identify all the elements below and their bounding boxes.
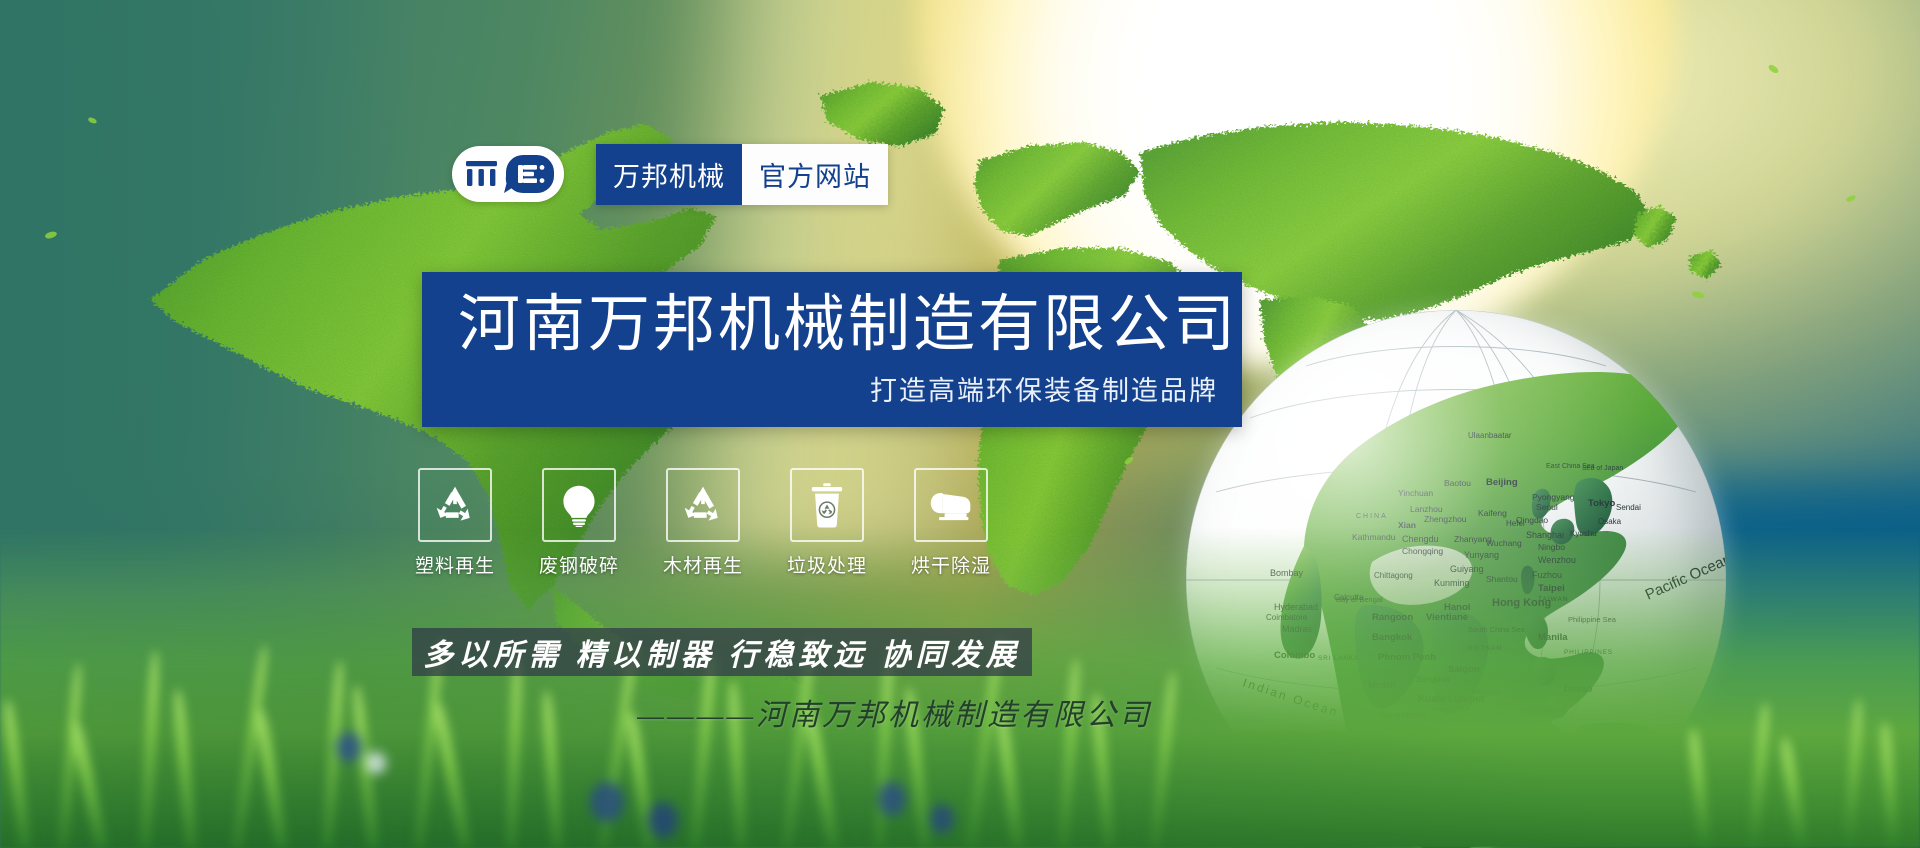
blue-flower — [336, 732, 362, 762]
service-icon-box[interactable] — [666, 468, 740, 542]
slogan-banner: 多以所需 精以制器 行稳致远 协同发展 — [412, 628, 1032, 676]
site-nav: 万邦机械 官方网站 — [596, 144, 888, 205]
slogan-attribution: ————河南万邦机械制造有限公司 — [412, 690, 1152, 734]
hero-banner: Ulaanbaatar Beijing Pyongyang Seoul Toky… — [0, 0, 1920, 848]
logo-b-glyph — [504, 155, 554, 193]
service-label: 废钢破碎 — [539, 551, 619, 578]
service-icon-row: 塑料再生 废钢破碎 — [420, 468, 986, 578]
service-icon-box[interactable] — [542, 468, 616, 542]
svg-text:CHINA: CHINA — [1356, 513, 1388, 520]
service-icon-box[interactable] — [790, 468, 864, 542]
svg-text:Hefei: Hefei — [1506, 519, 1525, 528]
service-label: 塑料再生 — [415, 551, 495, 578]
svg-text:Beijing: Beijing — [1486, 477, 1518, 488]
slogan-text: 多以所需 精以制器 行稳致远 协同发展 — [412, 630, 1032, 674]
svg-text:East China Sea: East China Sea — [1546, 463, 1595, 470]
svg-text:Tokyo: Tokyo — [1588, 498, 1615, 509]
service-item-waste-treatment[interactable]: 垃圾处理 — [792, 468, 862, 578]
svg-text:Osaka: Osaka — [1598, 517, 1622, 526]
recycle-icon — [433, 483, 477, 527]
dryer-blower-icon — [928, 488, 974, 522]
lightbulb-icon — [558, 483, 600, 527]
svg-text:Lanzhou: Lanzhou — [1410, 504, 1443, 514]
svg-text:Seoul: Seoul — [1536, 502, 1558, 512]
service-item-plastic-recycling[interactable]: 塑料再生 — [420, 468, 490, 578]
service-item-drying-dehumidifying[interactable]: 烘干除湿 — [916, 468, 986, 578]
svg-text:Zhengzhou: Zhengzhou — [1424, 514, 1467, 524]
blue-flower — [930, 804, 954, 834]
hero-title-panel: 河南万邦机械制造有限公司 打造高端环保装备制造品牌 — [422, 272, 1242, 427]
svg-text:Pyongyang: Pyongyang — [1532, 492, 1575, 502]
recycle-icon — [681, 483, 725, 527]
page-title: 河南万邦机械制造有限公司 — [458, 294, 1238, 356]
service-icon-box[interactable] — [914, 468, 988, 542]
svg-text:Ulaanbaatar: Ulaanbaatar — [1468, 431, 1512, 440]
svg-text:Kaifeng: Kaifeng — [1478, 508, 1507, 518]
svg-text:Baotou: Baotou — [1444, 478, 1471, 488]
service-label: 木材再生 — [663, 551, 743, 578]
service-icon-box[interactable] — [418, 468, 492, 542]
svg-text:Sendai: Sendai — [1616, 503, 1641, 512]
site-header: 万邦机械 官方网站 — [452, 142, 888, 206]
service-label: 烘干除湿 — [911, 551, 991, 578]
logo-w-glyph — [466, 161, 497, 186]
blue-flower — [648, 802, 678, 838]
blue-flower — [590, 782, 624, 822]
trash-bin-icon — [810, 482, 844, 528]
wb-monogram-logo[interactable] — [452, 146, 564, 202]
service-label: 垃圾处理 — [787, 551, 867, 578]
nav-item-official-site[interactable]: 官方网站 — [742, 144, 888, 205]
blue-flower — [366, 752, 386, 774]
service-item-wood-recycling[interactable]: 木材再生 — [668, 468, 738, 578]
nav-item-brand[interactable]: 万邦机械 — [596, 144, 742, 205]
page-subtitle: 打造高端环保装备制造品牌 — [870, 369, 1218, 408]
blue-flower — [878, 782, 906, 816]
service-item-scrap-steel-crushing[interactable]: 废钢破碎 — [544, 468, 614, 578]
svg-text:Yinchuan: Yinchuan — [1398, 488, 1433, 498]
